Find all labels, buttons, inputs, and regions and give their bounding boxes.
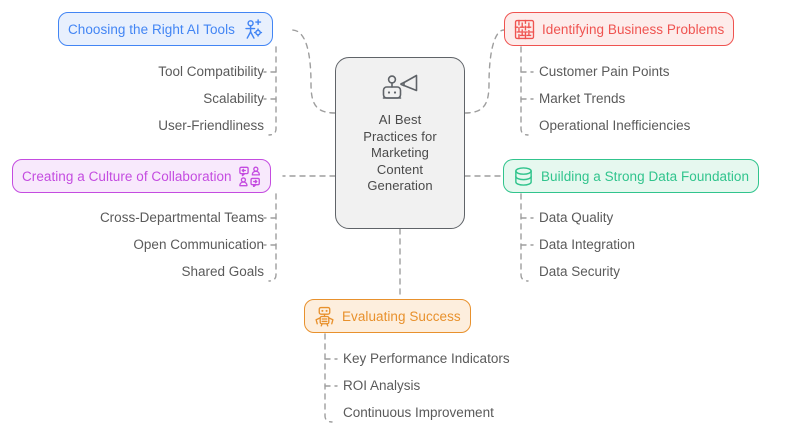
leaf-list-evaluating-success: Key Performance Indicators ROI Analysis … [343,345,510,426]
database-icon [513,166,534,187]
branch-node-choosing-tools[interactable]: Choosing the Right AI Tools [58,12,273,46]
branch-node-identifying-problems[interactable]: Identifying Business Problems [504,12,734,46]
leaf-item[interactable]: Operational Inefficiencies [539,112,690,139]
leaf-item[interactable]: Scalability [158,85,264,112]
leaf-item[interactable]: Key Performance Indicators [343,345,510,372]
connector-center-to-choosing-tools [292,30,335,113]
maze-puzzle-icon [514,19,535,40]
leaf-item[interactable]: ROI Analysis [343,372,510,399]
leaf-item[interactable]: Data Security [539,258,635,285]
branch-label-data-foundation: Building a Strong Data Foundation [541,169,749,184]
branch-node-culture-collaboration[interactable]: Creating a Culture of Collaboration [12,159,271,193]
branch-label-evaluating-success: Evaluating Success [342,309,461,324]
leaf-list-choosing-tools: Tool Compatibility Scalability User-Frie… [158,58,264,139]
center-node[interactable]: AI Best Practices for Marketing Content … [335,57,465,229]
mindmap-canvas: AI Best Practices for Marketing Content … [0,0,800,432]
leaf-item[interactable]: Data Integration [539,231,635,258]
connector-spine-identifying-problems [521,47,528,135]
leaf-list-data-foundation: Data Quality Data Integration Data Secur… [539,204,635,285]
branch-label-choosing-tools: Choosing the Right AI Tools [68,22,235,37]
center-node-title: AI Best Practices for Marketing Content … [363,112,437,195]
leaf-item[interactable]: Continuous Improvement [343,399,510,426]
people-chat-icon [239,166,261,187]
robot-icon [314,306,335,327]
leaf-item[interactable]: User-Friendliness [158,112,264,139]
connector-spine-culture-collaboration [269,194,276,281]
connector-spine-data-foundation [521,194,528,281]
branch-node-evaluating-success[interactable]: Evaluating Success [304,299,471,333]
leaf-item[interactable]: Cross-Departmental Teams [100,204,264,231]
leaf-list-identifying-problems: Customer Pain Points Market Trends Opera… [539,58,690,139]
leaf-item[interactable]: Tool Compatibility [158,58,264,85]
connector-center-to-identifying-problems [465,30,504,113]
leaf-item[interactable]: Data Quality [539,204,635,231]
branch-label-culture-collaboration: Creating a Culture of Collaboration [22,169,232,184]
leaf-item[interactable]: Open Communication [100,231,264,258]
leaf-item[interactable]: Customer Pain Points [539,58,690,85]
robot-megaphone-icon [378,72,422,106]
branch-node-data-foundation[interactable]: Building a Strong Data Foundation [503,159,759,193]
leaf-list-culture-collaboration: Cross-Departmental Teams Open Communicat… [100,204,264,285]
branch-label-identifying-problems: Identifying Business Problems [542,22,724,37]
leaf-item[interactable]: Shared Goals [100,258,264,285]
person-gear-icon [242,19,263,40]
connector-spine-evaluating-success [325,334,332,422]
connector-spine-choosing-tools [269,47,276,135]
leaf-item[interactable]: Market Trends [539,85,690,112]
